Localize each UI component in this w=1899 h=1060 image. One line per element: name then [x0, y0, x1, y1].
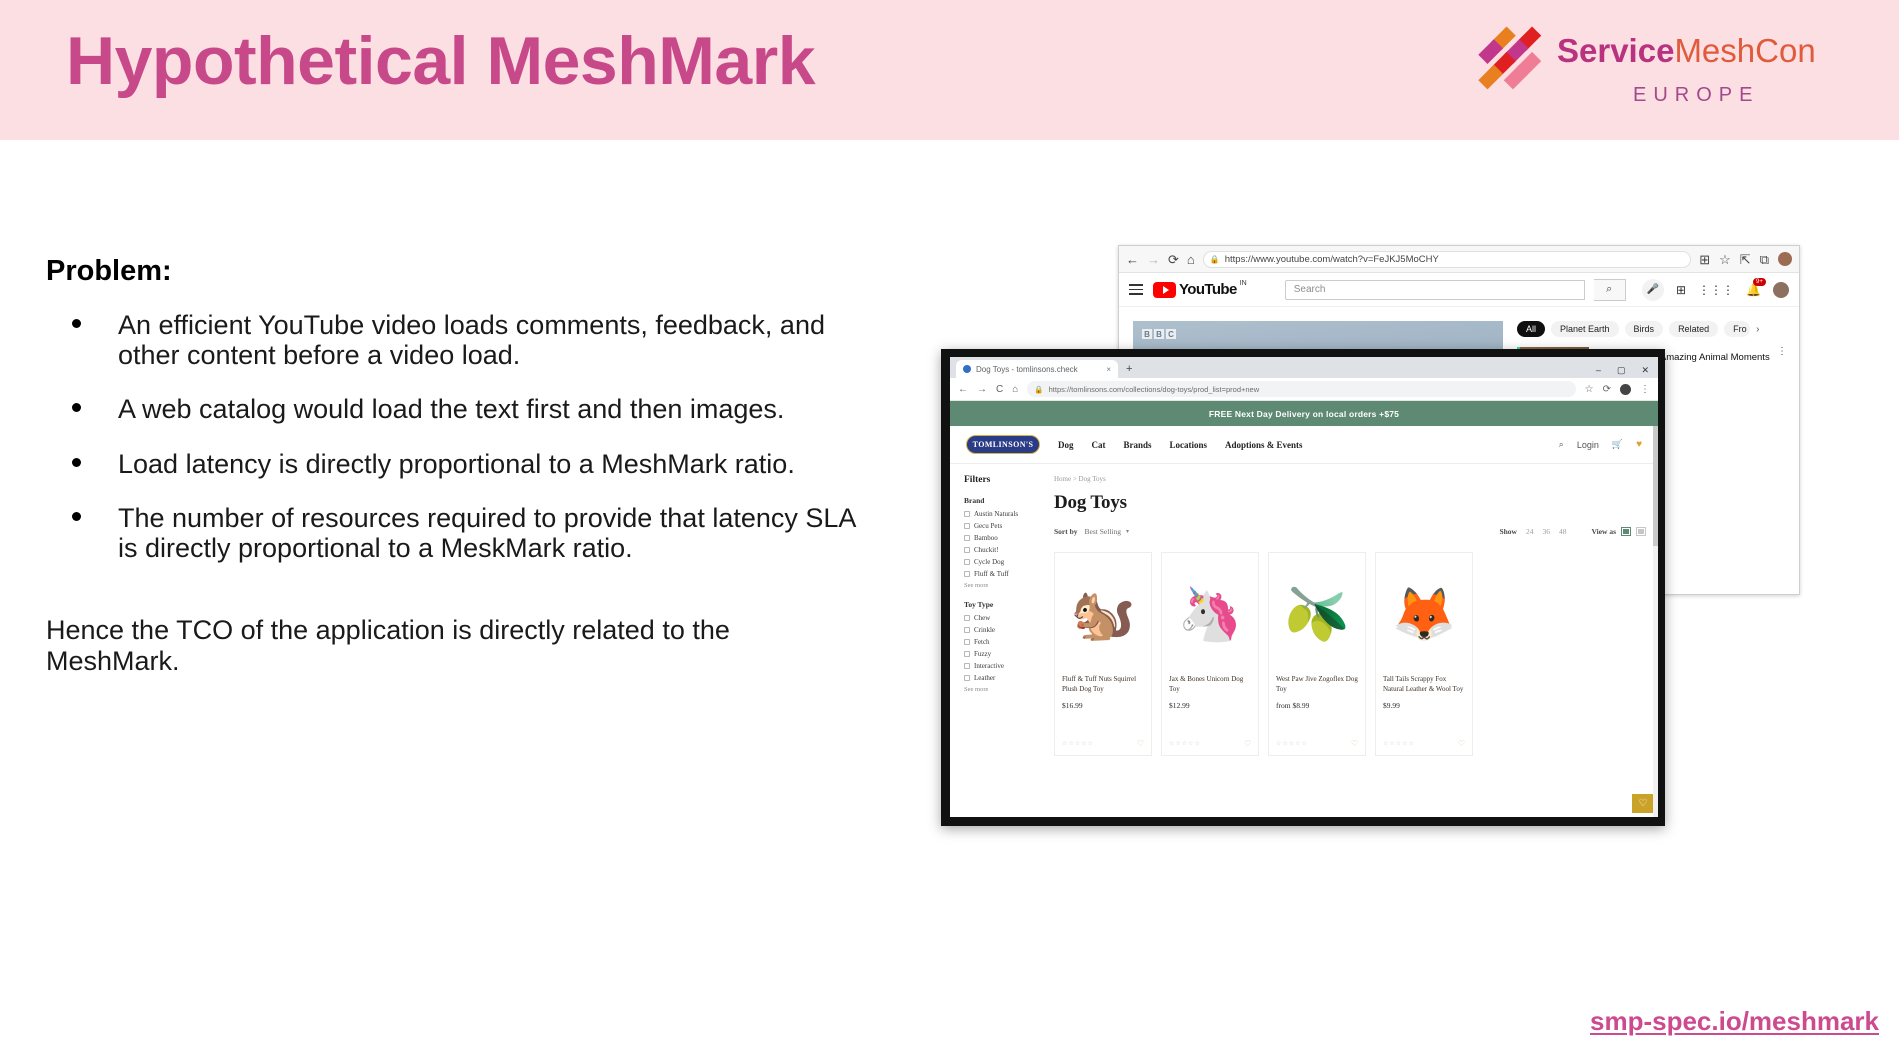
logo-subtitle: EUROPE	[1633, 84, 1759, 107]
problem-heading: Problem:	[46, 255, 866, 288]
content-column: Problem: An efficient YouTube video load…	[46, 255, 866, 678]
browser-menu-icon[interactable]: ⋮	[1640, 384, 1650, 395]
floating-wishlist-button[interactable]: ♡	[1632, 794, 1654, 813]
maximize-icon[interactable]: ▢	[1617, 365, 1626, 376]
rating-stars: ☆☆☆☆☆	[1062, 740, 1094, 747]
servicemeshcon-logo: ServiceMeshCon EUROPE	[1465, 12, 1875, 122]
forward-icon[interactable]: →	[1147, 253, 1160, 266]
grid-view-icon[interactable]	[1621, 527, 1631, 536]
extensions-icon[interactable]: ⧉	[1760, 253, 1769, 266]
sort-label: Sort by	[1054, 527, 1078, 536]
youtube-logo[interactable]: YouTube IN	[1153, 282, 1247, 298]
product-image: 🦄	[1169, 563, 1251, 667]
show-label: Show	[1499, 527, 1517, 536]
bullet-text: Load latency is directly proportional to…	[118, 449, 795, 479]
bullet-dot-icon	[72, 512, 81, 521]
product-price: $12.99	[1169, 701, 1251, 710]
filter-option-label: Austin Naturals	[974, 510, 1018, 518]
microphone-icon[interactable]: 🎤	[1642, 279, 1664, 301]
browser-tab-bar: Dog Toys - tomlinsons.check × + – ▢ ✕	[950, 357, 1658, 378]
chip-related[interactable]: Related	[1669, 321, 1718, 337]
closing-paragraph: Hence the TCO of the application is dire…	[46, 615, 866, 677]
filter-option-label: Bamboo	[974, 534, 998, 542]
filter-group-brand-label: Brand	[964, 496, 1046, 505]
bullet-dot-icon	[72, 458, 81, 467]
youtube-account-icons: ⊞ ⋮⋮⋮ 🔔9+	[1676, 282, 1789, 298]
nav-item-locations[interactable]: Locations	[1170, 440, 1208, 450]
filter-option[interactable]: Austin Naturals	[964, 510, 1046, 518]
cart-icon[interactable]: 🛒	[1612, 439, 1623, 450]
breadcrumb: Home > Dog Toys	[1054, 475, 1646, 483]
zogoflex-toy-icon: 🫒	[1285, 589, 1350, 641]
vertical-scrollbar[interactable]	[1653, 426, 1658, 817]
catalog-main: Home > Dog Toys Dog Toys Sort by Best Se…	[1046, 464, 1658, 817]
product-card[interactable]: 🦄 Jax & Bones Unicorn Dog Toy $12.99 ☆☆☆…	[1161, 552, 1259, 756]
product-name: West Paw Jive Zogoflex Dog Toy	[1276, 674, 1358, 694]
profile-avatar[interactable]	[1778, 252, 1792, 266]
list-item: Load latency is directly proportional to…	[46, 449, 866, 479]
filter-option[interactable]: Fluff & Tuff	[964, 570, 1046, 578]
checkbox-icon[interactable]	[964, 511, 970, 517]
product-card[interactable]: 🦊 Tall Tails Scrappy Fox Natural Leather…	[1375, 552, 1473, 756]
filter-option-label: Interactive	[974, 662, 1004, 670]
site-logo[interactable]: TOMLINSON'S	[966, 435, 1040, 454]
catalog-browser-inner: Dog Toys - tomlinsons.check × + – ▢ ✕ ← …	[950, 357, 1658, 817]
screenshot-collage: ← → ⟳ ⌂ 🔒 https://www.youtube.com/watch?…	[1118, 245, 1838, 895]
checkbox-icon[interactable]	[964, 559, 970, 565]
squirrel-toy-icon: 🐿️	[1071, 589, 1136, 641]
youtube-country-code: IN	[1240, 280, 1247, 287]
meshmark-spec-link[interactable]: smp-spec.io/meshmark	[1590, 1006, 1879, 1037]
catalog-browser-window: Dog Toys - tomlinsons.check × + – ▢ ✕ ← …	[941, 349, 1665, 826]
filter-option[interactable]: Gecu Pets	[964, 522, 1046, 530]
chevron-down-icon[interactable]: ▾	[1126, 528, 1129, 535]
home-icon[interactable]: ⌂	[1187, 253, 1195, 266]
filter-option[interactable]: Leather	[964, 674, 1046, 682]
browser-tab[interactable]: Dog Toys - tomlinsons.check ×	[956, 360, 1118, 378]
filter-option-label: Leather	[974, 674, 995, 682]
sort-select-value[interactable]: Best Selling	[1085, 527, 1121, 536]
more-options-icon[interactable]: ⋮	[1777, 347, 1787, 396]
chip-from[interactable]: Fro	[1724, 321, 1750, 337]
filter-option[interactable]: Fetch	[964, 638, 1046, 646]
youtube-browser-chrome: ← → ⟳ ⌂ 🔒 https://www.youtube.com/watch?…	[1119, 246, 1799, 273]
list-view-icon[interactable]	[1636, 527, 1646, 536]
checkbox-icon[interactable]	[964, 523, 970, 529]
chip-birds[interactable]: Birds	[1625, 321, 1664, 337]
wishlist-heart-icon[interactable]: ♡	[1351, 739, 1358, 748]
back-icon[interactable]: ←	[958, 384, 968, 395]
reload-icon[interactable]: ⟳	[1168, 253, 1179, 266]
chip-planet-earth[interactable]: Planet Earth	[1551, 321, 1619, 337]
browser-toolbar-icons: ⊞ ☆ ⇱ ⧉	[1699, 252, 1792, 266]
filter-option[interactable]: Interactive	[964, 662, 1046, 670]
filter-option-label: Chuckit!	[974, 546, 999, 554]
filter-group-toytype-label: Toy Type	[964, 600, 1046, 609]
checkbox-icon[interactable]	[964, 639, 970, 645]
nav-item-adoptions-events[interactable]: Adoptions & Events	[1225, 440, 1303, 450]
back-icon[interactable]: ←	[1126, 253, 1139, 266]
show-option-24[interactable]: 24	[1526, 527, 1534, 536]
catalog-address-bar: ← → C ⌂ 🔒 https://tomlinsons.com/collect…	[950, 378, 1658, 401]
product-grid: 🐿️ Fluff & Tuff Nuts Squirrel Plush Dog …	[1054, 552, 1646, 756]
scrollbar-thumb[interactable]	[1653, 426, 1658, 546]
product-image: 🫒	[1276, 563, 1358, 667]
lock-icon: 🔒	[1210, 255, 1220, 264]
product-card[interactable]: 🐿️ Fluff & Tuff Nuts Squirrel Plush Dog …	[1054, 552, 1152, 756]
filter-option[interactable]: Chew	[964, 614, 1046, 622]
hamburger-menu-icon[interactable]	[1129, 284, 1143, 295]
filter-option[interactable]: Crinkle	[964, 626, 1046, 634]
notifications-bell-icon[interactable]: 🔔9+	[1746, 283, 1761, 297]
notification-badge: 9+	[1753, 278, 1766, 286]
avatar[interactable]	[1620, 384, 1631, 395]
product-name: Fluff & Tuff Nuts Squirrel Plush Dog Toy	[1062, 674, 1144, 694]
fox-toy-icon: 🦊	[1392, 589, 1457, 641]
list-item: The number of resources required to prov…	[46, 503, 866, 563]
filters-title: Filters	[964, 475, 1046, 485]
close-icon[interactable]: ×	[1106, 365, 1111, 374]
youtube-masthead: YouTube IN Search ⌕ 🎤 ⊞ ⋮⋮⋮ 🔔9+	[1119, 273, 1799, 307]
filter-option[interactable]: Chuckit!	[964, 546, 1046, 554]
browser-tab-title: Dog Toys - tomlinsons.check	[976, 365, 1078, 374]
window-controls: – ▢ ✕	[1596, 365, 1658, 376]
wishlist-heart-icon[interactable]: ♡	[1244, 739, 1251, 748]
filters-sidebar: Filters Brand Austin Naturals Gecu Pets …	[950, 464, 1046, 817]
filter-option-label: Fluff & Tuff	[974, 570, 1009, 578]
filter-option-label: Cycle Dog	[974, 558, 1004, 566]
avatar[interactable]	[1773, 282, 1789, 298]
checkbox-icon[interactable]	[964, 547, 970, 553]
catalog-body: Filters Brand Austin Naturals Gecu Pets …	[950, 464, 1658, 817]
home-icon[interactable]: ⌂	[1012, 384, 1018, 395]
split-screen-icon[interactable]: ⊞	[1699, 253, 1710, 266]
site-nav: TOMLINSON'S Dog Cat Brands Locations Ado…	[950, 426, 1658, 464]
wishlist-heart-icon[interactable]: ♡	[1137, 739, 1144, 748]
filter-option-label: Fuzzy	[974, 650, 991, 658]
youtube-wordmark: YouTube	[1179, 282, 1237, 298]
list-item: An efficient YouTube video loads comment…	[46, 310, 866, 370]
checkbox-icon[interactable]	[964, 663, 970, 669]
logo-word-meshcon: MeshCon	[1674, 32, 1815, 69]
youtube-play-icon	[1153, 282, 1176, 298]
filter-option-label: Chew	[974, 614, 990, 622]
nav-utility-icons: ⌕ Login 🛒 ♥	[1559, 439, 1642, 450]
close-window-icon[interactable]: ✕	[1641, 365, 1649, 376]
rating-stars: ☆☆☆☆☆	[1169, 740, 1201, 747]
product-price: $16.99	[1062, 701, 1144, 710]
rating-stars: ☆☆☆☆☆	[1276, 740, 1308, 747]
product-price: $9.99	[1383, 701, 1465, 710]
product-image: 🦊	[1383, 563, 1465, 667]
filter-chip-row: All Planet Earth Birds Related Fro ›	[1517, 321, 1787, 337]
checkbox-icon[interactable]	[964, 651, 970, 657]
catalog-page-title: Dog Toys	[1054, 492, 1646, 514]
nav-item-brands[interactable]: Brands	[1124, 440, 1152, 450]
collections-icon[interactable]: ☆	[1719, 253, 1731, 266]
favicon-icon	[963, 365, 971, 373]
login-link[interactable]: Login	[1577, 440, 1599, 450]
forward-icon[interactable]: →	[977, 384, 987, 395]
address-input[interactable]: 🔒 https://tomlinsons.com/collections/dog…	[1027, 381, 1575, 397]
minimize-icon[interactable]: –	[1596, 365, 1601, 376]
filter-option[interactable]: Fuzzy	[964, 650, 1046, 658]
bookmark-star-icon[interactable]: ☆	[1585, 384, 1594, 395]
see-more-toytype-link[interactable]: See more	[964, 686, 1046, 693]
unicorn-toy-icon: 🦄	[1178, 589, 1243, 641]
see-more-brand-link[interactable]: See more	[964, 582, 1046, 589]
bbc-watermark-icon: BBC	[1142, 329, 1176, 339]
show-count-group: Show 24 36 48 View as	[1499, 527, 1646, 536]
nav-item-dog[interactable]: Dog	[1058, 440, 1074, 450]
list-item: A web catalog would load the text first …	[46, 394, 866, 424]
page-title: Hypothetical MeshMark	[66, 22, 815, 100]
bullet-dot-icon	[72, 403, 81, 412]
rating-stars: ☆☆☆☆☆	[1383, 740, 1415, 747]
checkbox-icon[interactable]	[964, 675, 970, 681]
slide-root: Hypothetical MeshMark ServiceMeshCon EUR…	[0, 0, 1899, 1060]
checkbox-icon[interactable]	[964, 535, 970, 541]
chip-all[interactable]: All	[1517, 321, 1545, 337]
sort-and-view-row: Sort by Best Selling ▾ Show 24 36 48 Vie…	[1054, 527, 1646, 545]
show-option-36[interactable]: 36	[1542, 527, 1550, 536]
search-icon[interactable]: ⌕	[1559, 439, 1564, 450]
filter-option-label: Fetch	[974, 638, 990, 646]
product-image: 🐿️	[1062, 563, 1144, 667]
favorites-icon[interactable]: ⇱	[1740, 253, 1751, 266]
bullet-list: An efficient YouTube video loads comment…	[46, 310, 866, 563]
reload-icon[interactable]: C	[996, 384, 1003, 395]
catalog-url: https://tomlinsons.com/collections/dog-t…	[1049, 385, 1260, 394]
lock-icon: 🔒	[1034, 385, 1043, 394]
new-tab-button[interactable]: +	[1126, 363, 1132, 375]
wishlist-heart-icon[interactable]: ♡	[1458, 739, 1465, 748]
logo-wordmark: ServiceMeshCon	[1557, 32, 1816, 70]
view-as-group: View as	[1591, 527, 1646, 536]
view-as-label: View as	[1591, 527, 1616, 536]
checkbox-icon[interactable]	[964, 627, 970, 633]
promo-banner: FREE Next Day Delivery on local orders +…	[950, 401, 1658, 426]
checkbox-icon[interactable]	[964, 615, 970, 621]
checkbox-icon[interactable]	[964, 571, 970, 577]
search-input[interactable]: Search	[1285, 280, 1585, 300]
bullet-dot-icon	[72, 319, 81, 328]
filter-option-label: Crinkle	[974, 626, 995, 634]
nav-item-cat[interactable]: Cat	[1092, 440, 1106, 450]
bullet-text: An efficient YouTube video loads comment…	[118, 310, 825, 370]
wishlist-heart-icon[interactable]: ♥	[1636, 439, 1642, 450]
bullet-text: The number of resources required to prov…	[118, 503, 855, 563]
create-video-icon[interactable]: ⊞	[1676, 283, 1686, 297]
product-name: Jax & Bones Unicorn Dog Toy	[1169, 674, 1251, 694]
address-bar-url: https://www.youtube.com/watch?v=FeJKJ5Mo…	[1225, 254, 1439, 265]
filter-option-label: Gecu Pets	[974, 522, 1002, 530]
address-bar[interactable]: 🔒 https://www.youtube.com/watch?v=FeJKJ5…	[1203, 251, 1691, 268]
sync-icon[interactable]: ⟳	[1603, 384, 1611, 395]
filter-option[interactable]: Cycle Dog	[964, 558, 1046, 566]
chevron-right-icon[interactable]: ›	[1756, 324, 1759, 335]
mesh-diamond-icon	[1465, 16, 1551, 102]
product-price: from $8.99	[1276, 701, 1358, 710]
apps-grid-icon[interactable]: ⋮⋮⋮	[1698, 283, 1734, 297]
bullet-text: A web catalog would load the text first …	[118, 394, 784, 424]
filter-option[interactable]: Bamboo	[964, 534, 1046, 542]
product-name: Tall Tails Scrappy Fox Natural Leather &…	[1383, 674, 1465, 694]
search-icon[interactable]: ⌕	[1594, 279, 1626, 301]
product-card[interactable]: 🫒 West Paw Jive Zogoflex Dog Toy from $8…	[1268, 552, 1366, 756]
show-option-48[interactable]: 48	[1559, 527, 1567, 536]
logo-word-service: Service	[1557, 32, 1674, 69]
